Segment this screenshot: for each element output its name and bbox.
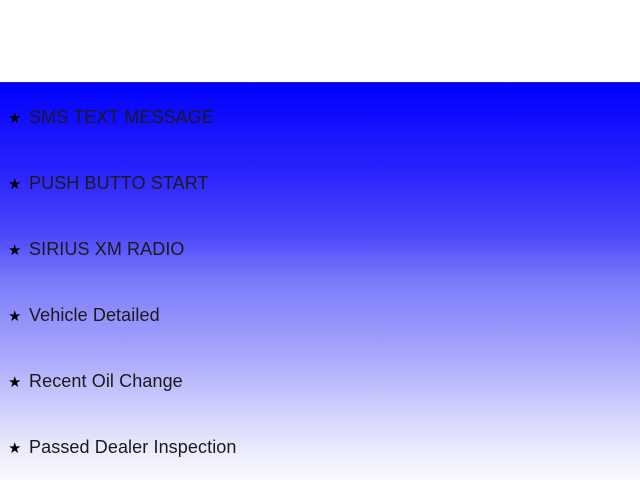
slide-page: ★ SMS TEXT MESSAGE ★ PUSH BUTTO START ★ …: [0, 0, 640, 480]
list-item: ★ SMS TEXT MESSAGE: [8, 106, 214, 130]
star-icon: ★: [8, 306, 29, 328]
star-icon: ★: [8, 108, 29, 130]
list-item-label: SMS TEXT MESSAGE: [29, 106, 214, 128]
list-item: ★ Vehicle Detailed: [8, 304, 160, 328]
star-icon: ★: [8, 438, 29, 460]
top-blank-area: [0, 0, 640, 82]
list-item: ★ SIRIUS XM RADIO: [8, 238, 185, 262]
list-item-label: SIRIUS XM RADIO: [29, 238, 185, 260]
gradient-panel: ★ SMS TEXT MESSAGE ★ PUSH BUTTO START ★ …: [0, 83, 640, 480]
list-item: ★ Recent Oil Change: [8, 370, 183, 394]
list-item-label: Recent Oil Change: [29, 370, 183, 392]
list-item-label: PUSH BUTTO START: [29, 172, 209, 194]
list-item: ★ Passed Dealer Inspection: [8, 436, 237, 460]
list-item: ★ PUSH BUTTO START: [8, 172, 209, 196]
list-item-label: Passed Dealer Inspection: [29, 436, 237, 458]
star-icon: ★: [8, 372, 29, 394]
star-icon: ★: [8, 174, 29, 196]
star-icon: ★: [8, 240, 29, 262]
list-item-label: Vehicle Detailed: [29, 304, 160, 326]
